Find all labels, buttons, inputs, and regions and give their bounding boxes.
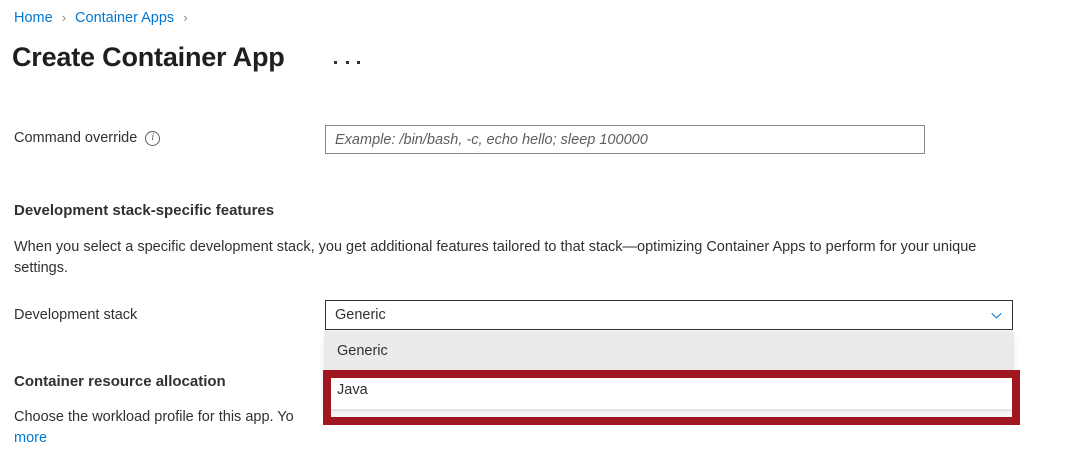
breadcrumb-item-container-apps[interactable]: Container Apps <box>75 8 174 28</box>
ellipsis-dot-2 <box>346 61 349 64</box>
resource-allocation-learn-more-wrapper: more <box>14 428 47 449</box>
development-stack-label: Development stack <box>14 305 137 325</box>
dropdown-option-generic-label: Generic <box>337 343 388 359</box>
ellipsis-dot-1 <box>334 61 337 64</box>
breadcrumb: Home › Container Apps › <box>14 8 197 28</box>
resource-allocation-description-text: Choose the workload profile for this app… <box>14 409 294 425</box>
command-override-label: Command override i <box>14 128 160 148</box>
breadcrumb-separator-icon-2: › <box>183 8 187 28</box>
page-title: Create Container App <box>12 39 285 75</box>
dev-stack-section-heading: Development stack-specific features <box>14 201 274 221</box>
command-override-label-text: Command override <box>14 128 137 148</box>
breadcrumb-item-home[interactable]: Home <box>14 8 53 28</box>
ellipsis-dot-3 <box>357 61 360 64</box>
resource-allocation-heading: Container resource allocation <box>14 372 226 392</box>
breadcrumb-separator-icon: › <box>62 8 66 28</box>
learn-more-link[interactable]: more <box>14 430 47 446</box>
command-override-input[interactable] <box>325 125 925 154</box>
chevron-down-icon <box>990 309 1003 322</box>
dropdown-option-java[interactable]: Java <box>326 370 1012 409</box>
info-icon[interactable]: i <box>145 131 160 146</box>
dev-stack-section-description: When you select a specific development s… <box>14 237 1014 279</box>
development-stack-selected-value: Generic <box>335 307 990 323</box>
more-actions-button[interactable] <box>334 50 360 74</box>
dropdown-option-generic[interactable]: Generic <box>326 331 1012 370</box>
dropdown-option-java-label: Java <box>337 382 368 398</box>
resource-allocation-description: Choose the workload profile for this app… <box>14 407 974 428</box>
development-stack-dropdown-list[interactable]: Generic Java <box>325 331 1013 410</box>
info-icon-glyph: i <box>151 133 154 143</box>
development-stack-combobox[interactable]: Generic <box>325 300 1013 330</box>
